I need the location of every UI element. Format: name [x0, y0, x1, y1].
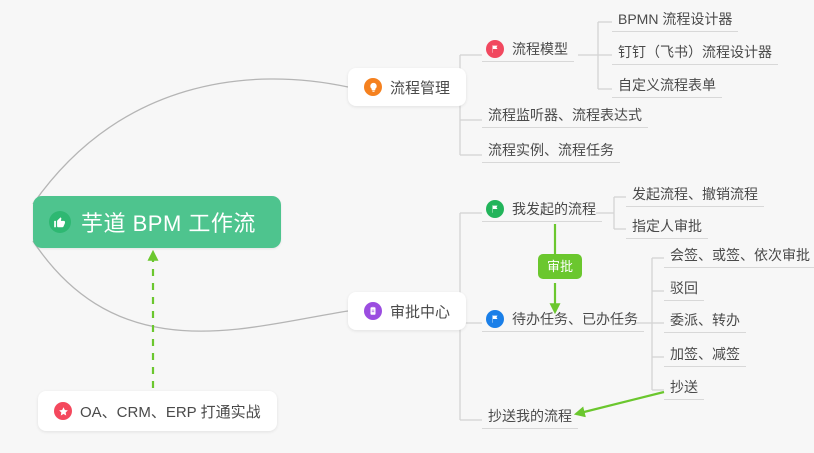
topic-label-flow-instance-task: 流程实例、流程任务 — [488, 142, 614, 159]
link-flow-model-trunk — [578, 22, 612, 89]
topic-label-add-remove-sign: 加签、减签 — [670, 346, 740, 363]
topic-label-start-cancel-flow: 发起流程、撤销流程 — [632, 186, 758, 203]
topic-reject[interactable]: 驳回 — [664, 275, 704, 301]
topic-my-started-flows[interactable]: 我发起的流程 — [482, 196, 602, 222]
mindmap-canvas: 芋道 BPM 工作流 流程管理 流程模型 BPMN 流程设计器 钉钉（飞书）流程… — [0, 0, 814, 453]
topic-label-bpmn-designer: BPMN 流程设计器 — [618, 11, 732, 28]
topic-label-todo-done-tasks: 待办任务、已办任务 — [512, 311, 638, 328]
clipboard-icon — [364, 302, 382, 320]
thumbs-up-icon — [49, 211, 71, 233]
cc-arrow-to-cc-my-flows — [576, 392, 664, 414]
approve-tag-label: 审批 — [547, 259, 573, 274]
topic-carbon-copy[interactable]: 抄送 — [664, 374, 704, 400]
topic-flow-model[interactable]: 流程模型 — [482, 36, 574, 62]
flag-icon — [486, 40, 504, 58]
topic-label-flow-model: 流程模型 — [512, 41, 568, 58]
topic-label-flow-listener-expression: 流程监听器、流程表达式 — [488, 107, 642, 124]
topic-cc-to-me-flows[interactable]: 抄送我的流程 — [482, 403, 578, 429]
topic-dingtalk-feishu-designer[interactable]: 钉钉（飞书）流程设计器 — [612, 39, 778, 65]
lightbulb-icon — [364, 78, 382, 96]
topic-label-my-started-flows: 我发起的流程 — [512, 201, 596, 218]
topic-flow-instance-task[interactable]: 流程实例、流程任务 — [482, 137, 620, 163]
link-root-to-approval-center — [33, 241, 348, 331]
branch-label-approval-center: 审批中心 — [390, 301, 450, 322]
branch-node-approval-center[interactable]: 审批中心 — [348, 292, 466, 330]
topic-label-delegate-transfer: 委派、转办 — [670, 312, 740, 329]
topic-flow-listener-expression[interactable]: 流程监听器、流程表达式 — [482, 102, 648, 128]
topic-countersign-orsign-sequential[interactable]: 会签、或签、依次审批 — [664, 242, 814, 268]
root-node[interactable]: 芋道 BPM 工作流 — [33, 196, 281, 248]
topic-label-cc-to-me-flows: 抄送我的流程 — [488, 408, 572, 425]
link-root-to-flow-management — [33, 79, 348, 204]
topic-label-carbon-copy: 抄送 — [670, 379, 698, 396]
branch-label-flow-management: 流程管理 — [390, 77, 450, 98]
topic-custom-flow-form[interactable]: 自定义流程表单 — [612, 72, 722, 98]
flag-icon — [486, 200, 504, 218]
flag-icon — [486, 310, 504, 328]
topic-label-reject: 驳回 — [670, 280, 698, 297]
topic-label-countersign-orsign-sequential: 会签、或签、依次审批 — [670, 247, 810, 264]
floating-node-integration-practice[interactable]: OA、CRM、ERP 打通实战 — [38, 391, 277, 431]
topic-label-dingtalk-feishu-designer: 钉钉（飞书）流程设计器 — [618, 44, 772, 61]
topic-start-cancel-flow[interactable]: 发起流程、撤销流程 — [626, 181, 764, 207]
topic-todo-done-tasks[interactable]: 待办任务、已办任务 — [482, 306, 644, 332]
topic-assignee-approval[interactable]: 指定人审批 — [626, 213, 708, 239]
topic-bpmn-designer[interactable]: BPMN 流程设计器 — [612, 6, 738, 32]
topic-label-custom-flow-form: 自定义流程表单 — [618, 77, 716, 94]
star-icon — [54, 402, 72, 420]
root-label: 芋道 BPM 工作流 — [81, 206, 256, 238]
branch-node-flow-management[interactable]: 流程管理 — [348, 68, 466, 106]
floating-node-label-integration-practice: OA、CRM、ERP 打通实战 — [80, 401, 261, 422]
approve-tag[interactable]: 审批 — [538, 254, 582, 279]
topic-delegate-transfer[interactable]: 委派、转办 — [664, 307, 746, 333]
topic-add-remove-sign[interactable]: 加签、减签 — [664, 341, 746, 367]
topic-label-assignee-approval: 指定人审批 — [632, 218, 702, 235]
